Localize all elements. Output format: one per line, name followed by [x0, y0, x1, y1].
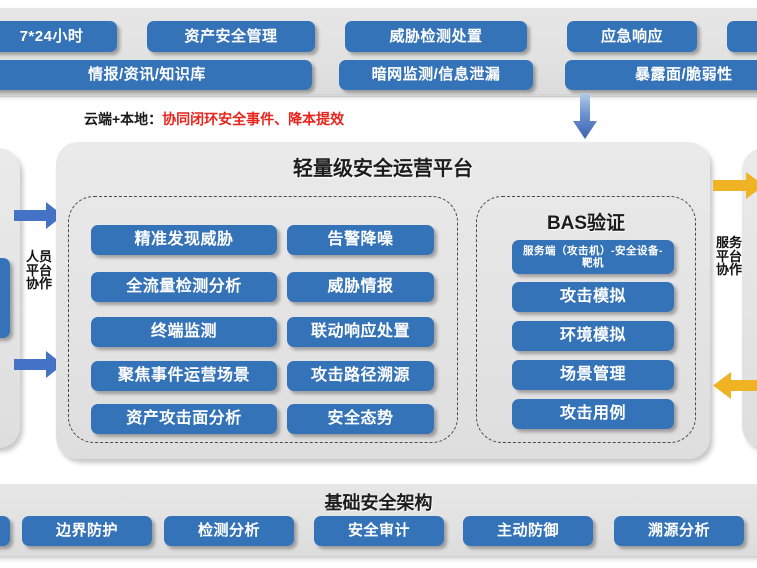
- right-side-label-line-1: 服务: [716, 236, 757, 250]
- right-arrow-top-icon: [713, 172, 757, 199]
- platform-left-pill-5-label: 资产攻击面分析: [126, 410, 242, 428]
- foundation-pill-5[interactable]: 溯源分析: [614, 516, 744, 546]
- top-pill-6[interactable]: 情报/资讯/知识库: [0, 60, 312, 90]
- foundation-pill-2[interactable]: 检测分析: [164, 516, 294, 546]
- top-pill-6-label: 情报/资讯/知识库: [88, 66, 206, 83]
- foundation-pill-0-clipped[interactable]: [0, 516, 10, 546]
- foundation-pill-4-label: 主动防御: [497, 522, 559, 539]
- top-pill-4[interactable]: 应急响应: [567, 21, 697, 52]
- right-side-label: 服务 平台 协作: [716, 236, 757, 277]
- platform-left-pill-5[interactable]: 资产攻击面分析: [91, 404, 277, 434]
- platform-right-pill-5-label: 安全态势: [327, 410, 393, 428]
- foundation-pill-2-label: 检测分析: [198, 522, 260, 539]
- platform-right-pill-4-label: 攻击路径溯源: [311, 367, 410, 385]
- bas-subtitle-label: 服务端（攻击机）-安全设备-靶机: [518, 245, 668, 269]
- bas-title: BAS验证: [476, 208, 696, 235]
- platform-left-pill-4-label: 聚焦事件运营场景: [118, 367, 250, 385]
- top-pill-8-clipped[interactable]: 暴露面/脆弱性: [565, 60, 757, 90]
- foundation-title-text: 基础安全架构: [325, 493, 433, 513]
- band-divider: [0, 96, 757, 97]
- foundation-pill-3[interactable]: 安全审计: [314, 516, 444, 546]
- left-clipped-pill[interactable]: [0, 258, 10, 338]
- top-pill-3[interactable]: 威胁检测处置: [345, 21, 527, 52]
- bas-pill-4[interactable]: 攻击用例: [512, 399, 674, 429]
- top-pill-5-clipped[interactable]: [727, 21, 757, 52]
- top-pill-4-label: 应急响应: [601, 28, 663, 45]
- platform-right-pill-1-label: 告警降噪: [327, 231, 393, 249]
- top-pill-1[interactable]: 7*24小时: [0, 21, 117, 52]
- platform-left-pill-4[interactable]: 聚焦事件运营场景: [91, 361, 277, 391]
- foundation-pill-5-label: 溯源分析: [648, 522, 710, 539]
- bas-pill-1[interactable]: 攻击模拟: [512, 282, 674, 312]
- top-pill-7-label: 暗网监测/信息泄漏: [372, 66, 501, 83]
- bas-pill-2-label: 环境模拟: [560, 327, 626, 345]
- right-side-label-line-3: 协作: [716, 263, 757, 277]
- cloud-note-highlight: 协同闭环安全事件、降本提效: [162, 111, 344, 127]
- top-pill-2-label: 资产安全管理: [184, 28, 277, 45]
- platform-title-text: 轻量级安全运营平台: [293, 158, 473, 180]
- bas-pill-2[interactable]: 环境模拟: [512, 321, 674, 351]
- bas-pill-4-label: 攻击用例: [560, 405, 626, 423]
- bas-title-text: BAS验证: [547, 213, 625, 234]
- top-pill-3-label: 威胁检测处置: [389, 28, 482, 45]
- cloud-note: 云端+本地：协同闭环安全事件、降本提效: [84, 109, 344, 129]
- down-arrow-icon: [572, 93, 598, 140]
- foundation-pill-3-label: 安全审计: [348, 522, 410, 539]
- foundation-pill-1[interactable]: 边界防护: [22, 516, 152, 546]
- platform-left-pill-2[interactable]: 全流量检测分析: [91, 272, 277, 302]
- platform-left-pill-3[interactable]: 终端监测: [91, 317, 277, 347]
- bas-pill-1-label: 攻击模拟: [560, 288, 626, 306]
- foundation-pill-1-label: 边界防护: [56, 522, 118, 539]
- bas-pill-3[interactable]: 场景管理: [512, 360, 674, 390]
- platform-right-pill-2-label: 威胁情报: [327, 278, 393, 296]
- cloud-note-prefix: 云端+本地：: [84, 111, 162, 127]
- platform-right-pill-4[interactable]: 攻击路径溯源: [287, 361, 434, 391]
- platform-left-pill-1[interactable]: 精准发现威胁: [91, 225, 277, 255]
- platform-right-pill-3-label: 联动响应处置: [311, 323, 410, 341]
- top-pill-2[interactable]: 资产安全管理: [147, 21, 315, 52]
- right-side-label-line-2: 平台: [716, 250, 757, 264]
- diagram-root: 7*24小时 资产安全管理 威胁检测处置 应急响应 情报/资讯/知识库 暗网监测…: [0, 0, 757, 568]
- platform-left-pill-1-label: 精准发现威胁: [134, 231, 233, 249]
- platform-left-pill-3-label: 终端监测: [151, 323, 217, 341]
- top-pill-8-label: 暴露面/脆弱性: [635, 66, 733, 83]
- top-pill-7[interactable]: 暗网监测/信息泄漏: [339, 60, 533, 90]
- bas-pill-3-label: 场景管理: [560, 366, 626, 384]
- foundation-title: 基础安全架构: [0, 489, 757, 515]
- platform-right-pill-3[interactable]: 联动响应处置: [287, 317, 434, 347]
- top-pill-1-label: 7*24小时: [20, 28, 84, 45]
- platform-title: 轻量级安全运营平台: [56, 152, 710, 181]
- right-arrow-bottom-icon: [713, 372, 757, 399]
- platform-left-pill-2-label: 全流量检测分析: [126, 278, 242, 296]
- platform-right-pill-5[interactable]: 安全态势: [287, 404, 434, 434]
- bas-subtitle-pill[interactable]: 服务端（攻击机）-安全设备-靶机: [512, 240, 674, 274]
- platform-right-pill-2[interactable]: 威胁情报: [287, 272, 434, 302]
- foundation-pill-4[interactable]: 主动防御: [463, 516, 593, 546]
- platform-right-pill-1[interactable]: 告警降噪: [287, 225, 434, 255]
